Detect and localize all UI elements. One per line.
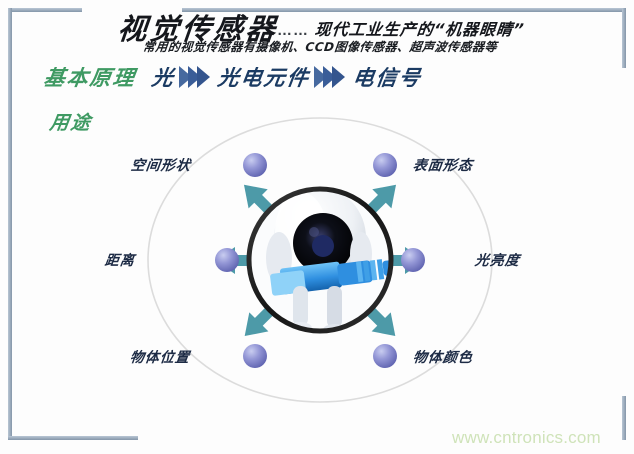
frame-right-vertical-lower [622,396,626,440]
node-sphere-top-left [243,153,267,177]
node-label-top-right: 表面形态 [412,155,474,175]
principle-step-3: 电信号 [351,62,424,92]
node-label-top-left: 空间形状 [130,155,192,175]
site-watermark: www.cntronics.com [452,428,601,448]
uses-diagram: 空间形状 表面形态 距离 光亮度 物体位置 物体颜色 [95,110,545,410]
principle-step-1: 光 [150,62,177,92]
frame-top-left-horizontal [8,8,82,12]
frame-left-vertical [8,8,12,440]
page-subtitle: 现代工业生产的“机器眼睛” [314,16,526,40]
node-label-right: 光亮度 [474,250,521,270]
node-sphere-top-right [373,153,397,177]
chevron-right-icon-2 [318,66,345,88]
node-sphere-bottom-right [373,344,397,368]
uses-label: 用途 [48,108,94,135]
chevron-right-icon [183,66,210,88]
principle-flow: 基本原理 光 光电元件 电信号 [44,60,422,94]
principle-step-2: 光电元件 [216,62,312,92]
node-label-bottom-left: 物体位置 [129,347,191,367]
frame-bottom-horizontal [8,436,138,440]
slide-canvas: 视觉传感器 …… 现代工业生产的“机器眼睛” 常用的视觉传感器有摄像机、CCD图… [0,0,634,454]
title-ellipsis: …… [277,22,309,39]
page-description: 常用的视觉传感器有摄像机、CCD图像传感器、超声波传感器等 [142,38,498,55]
node-sphere-left [215,248,239,272]
frame-right-vertical [622,8,626,68]
node-label-bottom-right: 物体颜色 [412,347,474,367]
principle-label: 基本原理 [42,62,138,92]
node-sphere-bottom-left [243,344,267,368]
node-sphere-right [401,248,425,272]
node-label-left: 距离 [104,250,136,270]
